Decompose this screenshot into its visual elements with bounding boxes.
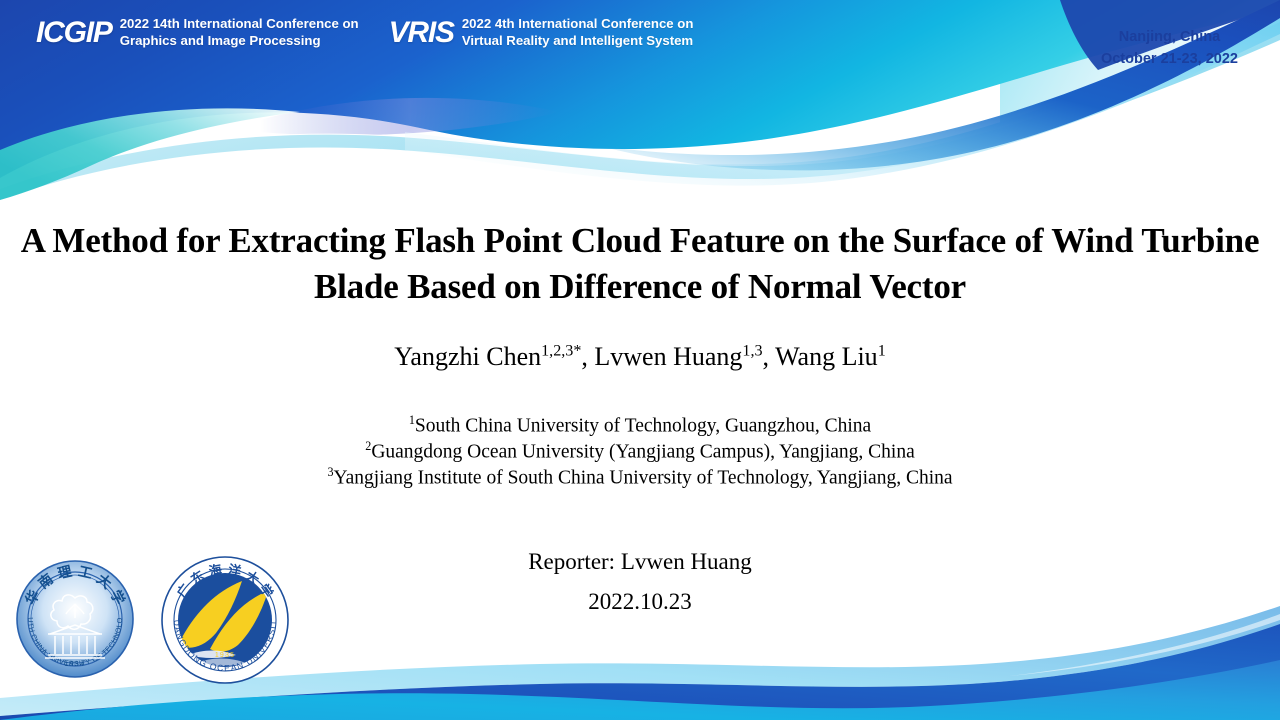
- author-1: Lvwen Huang1,3: [594, 342, 762, 371]
- conference-venue-dates: Nanjing, China October 21-23, 2022: [1101, 26, 1238, 71]
- presentation-date: 2022.10.23: [290, 589, 990, 615]
- vris-subtitle: 2022 4th International Conference on Vir…: [462, 16, 694, 50]
- venue-location: Nanjing, China: [1101, 26, 1238, 48]
- scut-founding-year: 1934: [65, 661, 86, 668]
- author-2: Wang Liu1: [775, 342, 886, 371]
- affiliation-3: 3Yangjiang Institute of South China Univ…: [90, 465, 1190, 491]
- author-0-name: Yangzhi Chen: [394, 342, 541, 371]
- affiliation-1: 1South China University of Technology, G…: [90, 413, 1190, 439]
- vris-acronym: VRIS: [389, 18, 454, 48]
- icgip-subtitle-line2: Graphics and Image Processing: [120, 33, 321, 48]
- icgip-subtitle-line1: 2022 14th International Conference on: [120, 16, 359, 31]
- author-0: Yangzhi Chen1,2,3*: [394, 342, 581, 371]
- conference-logo-vris: VRIS 2022 4th International Conference o…: [389, 16, 694, 50]
- author-1-name: Lvwen Huang: [594, 342, 742, 371]
- conference-logos: ICGIP 2022 14th International Conference…: [36, 16, 693, 50]
- author-2-name: Wang Liu: [775, 342, 878, 371]
- affiliation-2-text: Guangdong Ocean University (Yangjiang Ca…: [371, 442, 914, 463]
- reporter-line: Reporter: Lvwen Huang: [290, 549, 990, 575]
- presentation-slide: ICGIP 2022 14th International Conference…: [0, 0, 1280, 720]
- author-2-marks: 1: [878, 342, 886, 359]
- author-list: Yangzhi Chen1,2,3*, Lvwen Huang1,3, Wang…: [90, 342, 1190, 372]
- affiliation-list: 1South China University of Technology, G…: [90, 413, 1190, 491]
- icgip-acronym: ICGIP: [36, 18, 112, 48]
- affiliation-2: 2Guangdong Ocean University (Yangjiang C…: [90, 439, 1190, 465]
- affiliation-3-text: Yangjiang Institute of South China Unive…: [334, 468, 953, 489]
- presentation-title: A Method for Extracting Flash Point Clou…: [20, 218, 1260, 309]
- conference-logo-icgip: ICGIP 2022 14th International Conference…: [36, 16, 359, 50]
- author-separator-1: ,: [763, 342, 776, 371]
- affiliation-1-text: South China University of Technology, Gu…: [415, 416, 871, 437]
- gdou-founding-year: 1935: [215, 652, 235, 659]
- vris-subtitle-line2: Virtual Reality and Intelligent System: [462, 33, 693, 48]
- icgip-subtitle: 2022 14th International Conference on Gr…: [120, 16, 359, 50]
- vris-subtitle-line1: 2022 4th International Conference on: [462, 16, 694, 31]
- scut-university-logo: 华 南 理 工 大 学 SOUTH CHINA UNIVERSITY OF TE…: [14, 558, 136, 680]
- author-separator-0: ,: [581, 342, 594, 371]
- venue-dates: October 21-23, 2022: [1101, 48, 1238, 70]
- author-0-marks: 1,2,3*: [541, 342, 581, 359]
- gdou-university-logo: 广 东 海 洋 大 学 GUANGDONG OCEAN UNIVERSITY 1…: [158, 553, 292, 687]
- author-1-marks: 1,3: [742, 342, 762, 359]
